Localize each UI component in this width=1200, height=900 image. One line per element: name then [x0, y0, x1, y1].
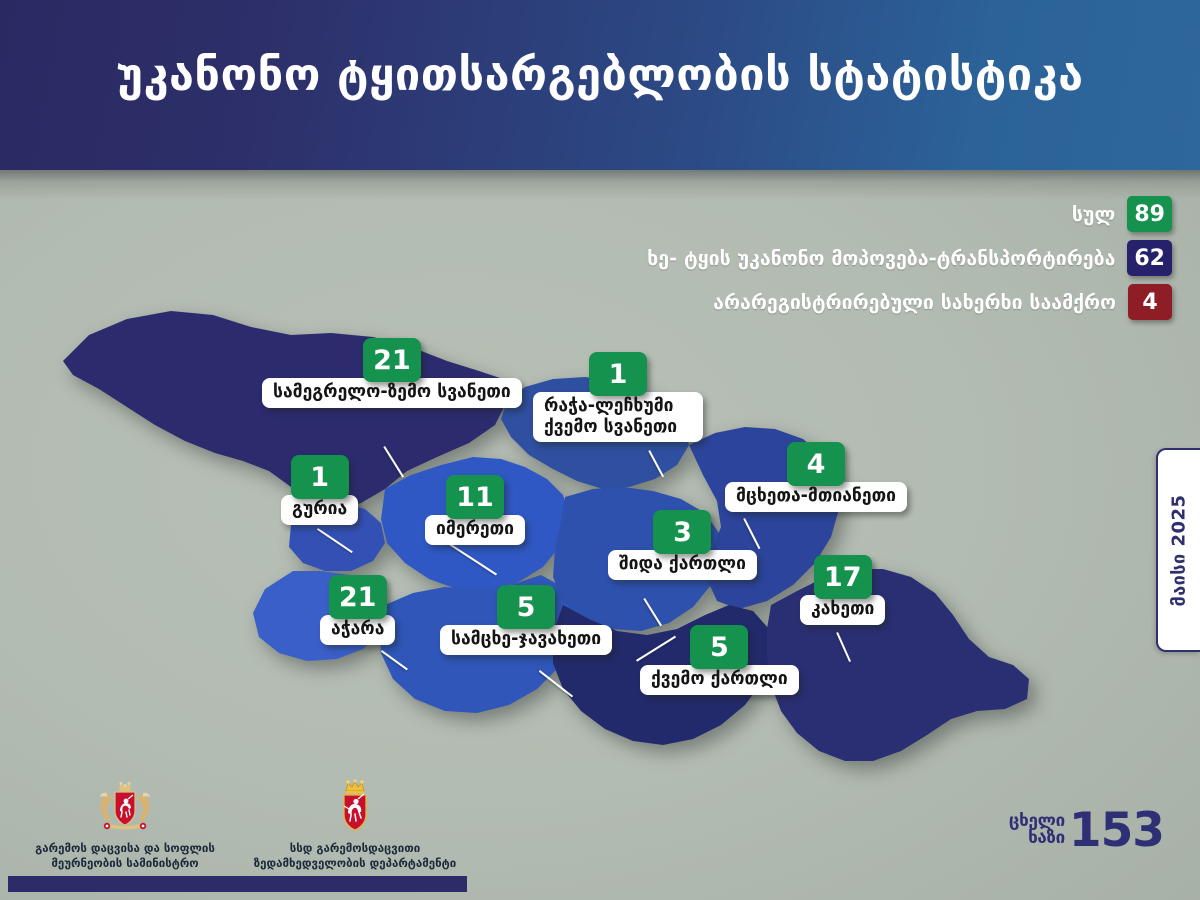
date-tab[interactable]: მაისი 2025 — [1156, 448, 1200, 652]
legend: სულ 89 ხე- ტყის უკანონო მოპოვება-ტრანსპო… — [647, 196, 1172, 320]
callout-count-samtskhe: 5 — [497, 585, 555, 629]
org-department-line1: სსდ გარემოსდაცვითი — [225, 841, 485, 857]
org-department-line2: ზედამხედველობის დეპარტამენტი — [225, 856, 485, 872]
legend-row-total: სულ 89 — [1072, 196, 1172, 232]
callout-guria[interactable]: 1 გურია — [281, 455, 358, 525]
org-department: სსდ გარემოსდაცვითი ზედამხედველობის დეპარ… — [225, 779, 485, 872]
callout-count-shida-kartli: 3 — [653, 510, 711, 554]
callout-count-kakheti: 17 — [814, 555, 872, 599]
callout-name-mtskheta: მცხეთა-მთიანეთი — [725, 482, 907, 512]
legend-chip-sawmill: 4 — [1128, 284, 1172, 320]
callout-samegrelo-zemo-svaneti[interactable]: 21 სამეგრელო-ზემო სვანეთი — [262, 338, 522, 408]
legend-row-sawmill: არარეგისტრირებული სახერხი საამქრო 4 — [713, 284, 1172, 320]
callout-shida-kartli[interactable]: 3 შიდა ქართლი — [608, 510, 757, 580]
callout-name-kvemo-kartli: ქვემო ქართლი — [640, 665, 799, 695]
legend-chip-total: 89 — [1127, 196, 1172, 232]
callout-count-kvemo-kartli: 5 — [690, 625, 748, 669]
callout-name-adjara: აჭარა — [320, 615, 395, 645]
callout-kakheti[interactable]: 17 კახეთი — [800, 555, 885, 625]
callout-mtskheta-mtianeti[interactable]: 4 მცხეთა-მთიანეთი — [725, 442, 907, 512]
callout-count-guria: 1 — [291, 455, 349, 499]
bottom-accent-bar — [8, 876, 467, 892]
date-tab-label: მაისი 2025 — [1169, 494, 1190, 606]
hotline-label: ცხელი ხაზი — [1009, 813, 1065, 848]
department-shield-icon — [325, 779, 385, 835]
callout-count-imereti: 11 — [446, 475, 504, 519]
hotline: ცხელი ხაზი 153 — [1009, 809, 1164, 852]
callout-name-samtskhe: სამცხე-ჯავახეთი — [440, 625, 612, 655]
callout-name-shida-kartli: შიდა ქართლი — [608, 550, 757, 580]
legend-label-sawmill: არარეგისტრირებული სახერხი საამქრო — [713, 291, 1116, 314]
org-ministry-line1: გარემოს დაცვისა და სოფლის — [0, 841, 255, 857]
page-title: უკანონო ტყითსარგებლობის სტატისტიკა — [0, 48, 1200, 101]
legend-chip-timber: 62 — [1127, 240, 1172, 276]
callout-name-imereti: იმერეთი — [425, 515, 525, 545]
header-banner: უკანონო ტყითსარგებლობის სტატისტიკა — [0, 0, 1200, 170]
callout-name-samegrelo: სამეგრელო-ზემო სვანეთი — [262, 378, 522, 408]
callout-name-kakheti: კახეთი — [800, 595, 885, 625]
callout-count-mtskheta: 4 — [787, 442, 845, 486]
georgia-coat-of-arms-icon — [95, 779, 155, 835]
callout-adjara[interactable]: 21 აჭარა — [320, 575, 395, 645]
org-ministry-line2: მეურნეობის სამინისტრო — [0, 856, 255, 872]
callout-count-samegrelo: 21 — [363, 338, 421, 382]
org-ministry: გარემოს დაცვისა და სოფლის მეურნეობის სამ… — [0, 779, 255, 872]
legend-label-timber: ხე- ტყის უკანონო მოპოვება-ტრანსპორტირება — [647, 247, 1115, 270]
callout-count-adjara: 21 — [329, 575, 387, 619]
callout-samtskhe-javakheti[interactable]: 5 სამცხე-ჯავახეთი — [440, 585, 612, 655]
infographic-poster: უკანონო ტყითსარგებლობის სტატისტიკა სულ 8… — [0, 0, 1200, 900]
callout-name-racha: რაჭა-ლეჩხუმი ქვემო სვანეთი — [533, 392, 703, 442]
hotline-word-2: ხაზი — [1009, 830, 1065, 847]
callout-name-guria: გურია — [281, 495, 358, 525]
callout-imereti[interactable]: 11 იმერეთი — [425, 475, 525, 545]
callout-count-racha: 1 — [589, 352, 647, 396]
hotline-number: 153 — [1069, 809, 1164, 852]
callout-kvemo-kartli[interactable]: 5 ქვემო ქართლი — [640, 625, 799, 695]
legend-row-timber: ხე- ტყის უკანონო მოპოვება-ტრანსპორტირება… — [647, 240, 1172, 276]
legend-label-total: სულ — [1072, 203, 1116, 226]
callout-racha-lechkhumi[interactable]: 1 რაჭა-ლეჩხუმი ქვემო სვანეთი — [533, 352, 703, 442]
